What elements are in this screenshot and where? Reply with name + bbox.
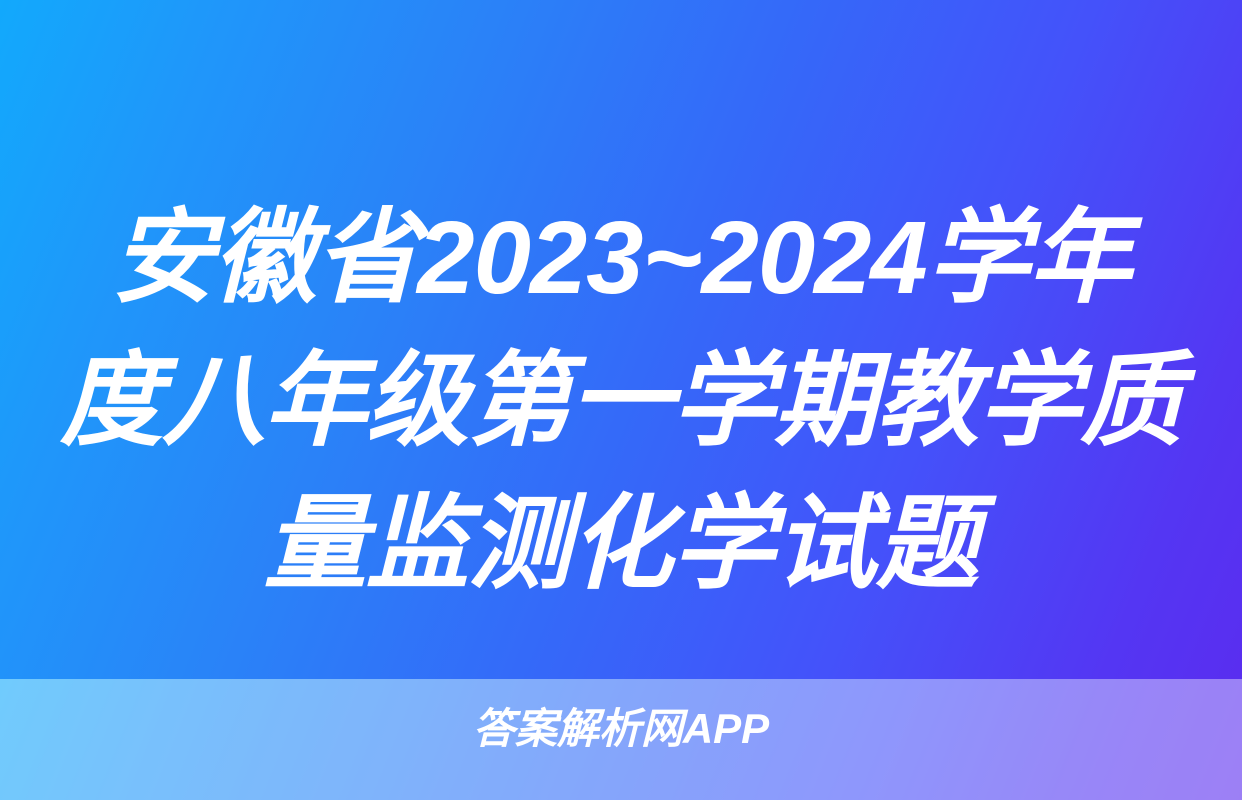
footer-watermark: 答案解析网APP (0, 703, 1242, 755)
title-line-3: 量监测化学试题 (0, 472, 1242, 615)
title-line-1: 安徽省2023~2024学年 (0, 186, 1242, 329)
page-title: 安徽省2023~2024学年 度八年级第一学期教学质 量监测化学试题 (0, 186, 1242, 615)
exam-title-poster: 安徽省2023~2024学年 度八年级第一学期教学质 量监测化学试题 答案解析网… (0, 0, 1242, 800)
title-line-2: 度八年级第一学期教学质 (0, 329, 1242, 472)
watermark-label: 答案解析网APP (473, 703, 769, 755)
